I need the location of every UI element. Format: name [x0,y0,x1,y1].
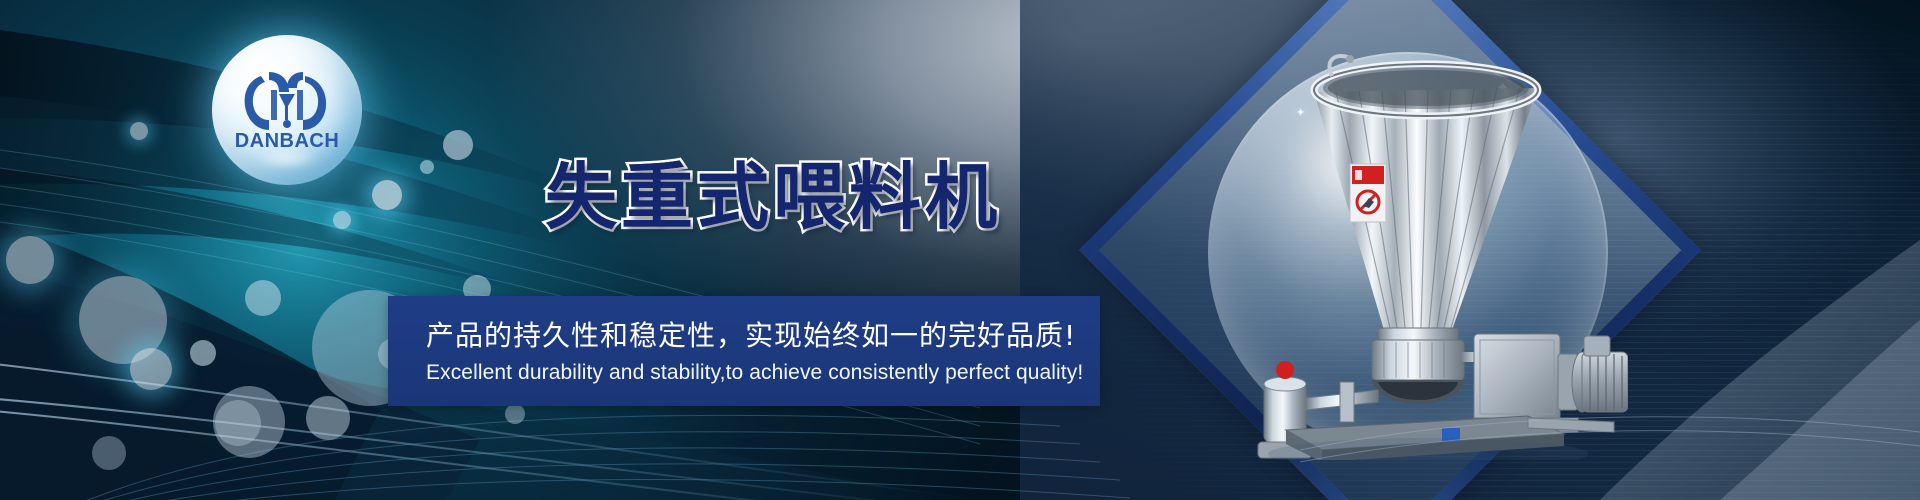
tagline-chinese: 产品的持久性和稳定性，实现始终如一的完好品质! [426,314,1076,354]
danbach-mark-icon [241,70,333,138]
tagline-box: 产品的持久性和稳定性，实现始终如一的完好品质! Excellent durabi… [388,296,1100,406]
background-light-sweep [1300,200,1920,500]
brand-name-text: DANBACH [212,130,362,153]
product-banner: DANBACH 失重式喂料机 失重式喂料机 产品的持久性和稳定性，实现始终如一的… [0,0,1920,500]
page-title: 失重式喂料机 [545,138,1001,243]
brand-logo[interactable]: DANBACH [212,35,362,185]
tagline-english: Excellent durability and stability,to ac… [426,361,1083,385]
